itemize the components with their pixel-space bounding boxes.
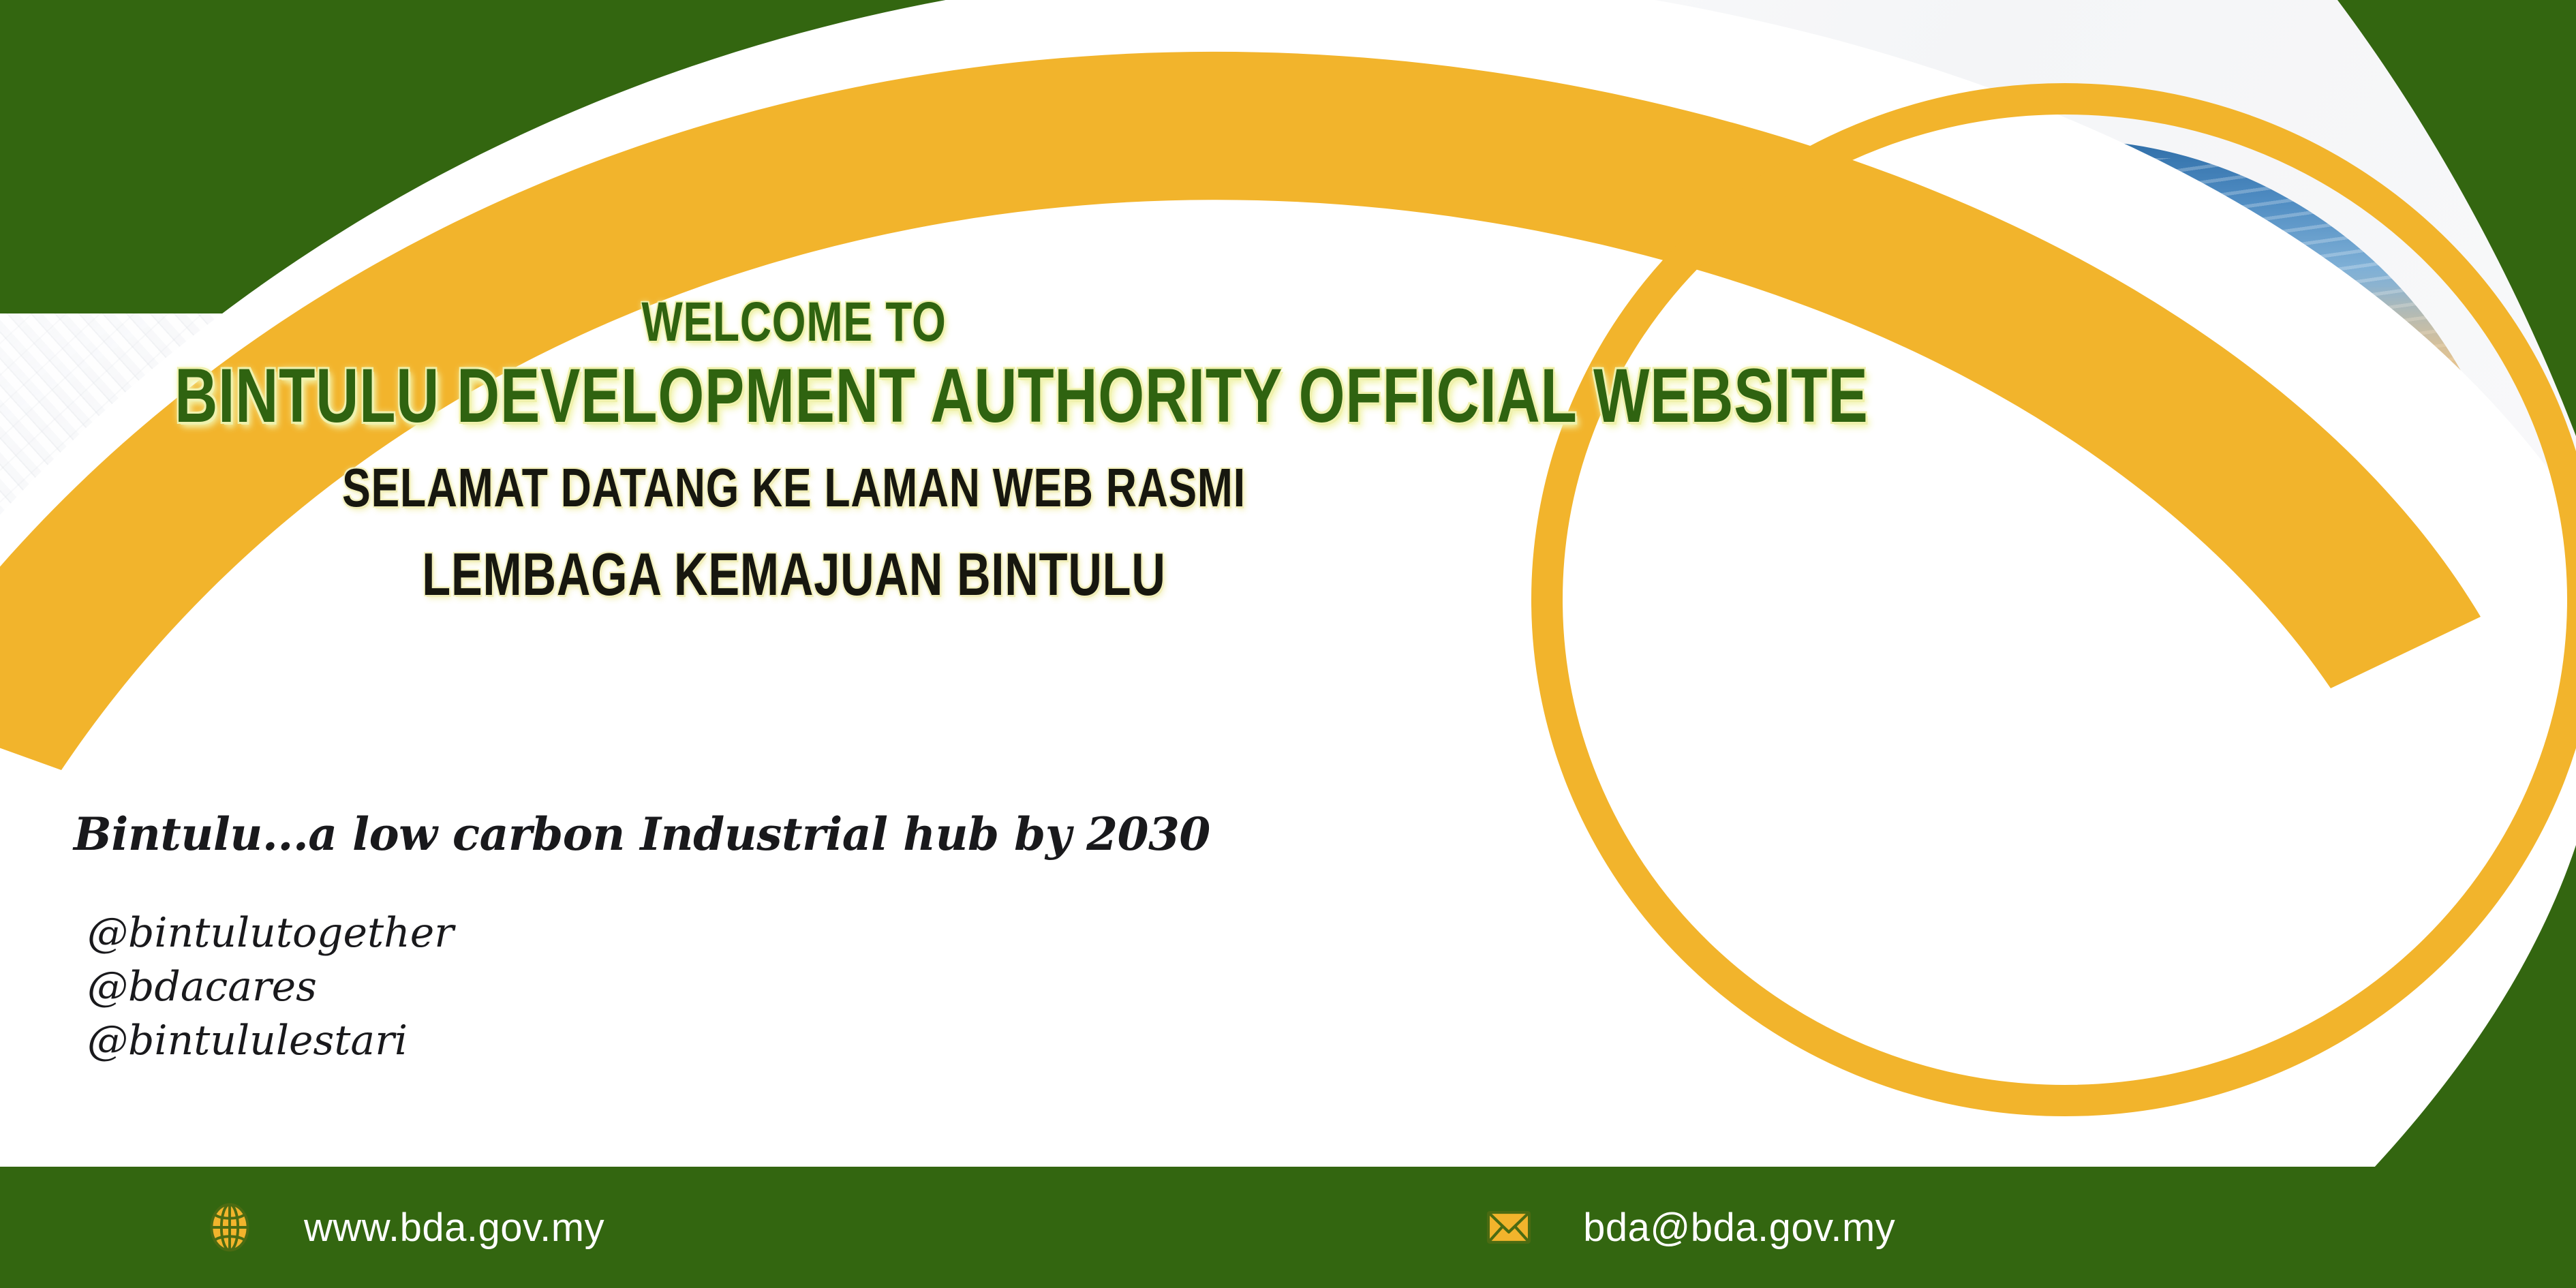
social-handle[interactable]: @bintulutogether	[87, 906, 454, 960]
social-handles-list: @bintulutogether @bdacares @bintululesta…	[87, 906, 454, 1069]
headline-malay-2: LEMBAGA KEMAJUAN BINTULU	[174, 543, 1413, 606]
website-url[interactable]: www.bda.gov.my	[304, 1205, 604, 1251]
headline-welcome: WELCOME TO	[174, 293, 1413, 351]
envelope-icon	[1484, 1202, 1534, 1253]
social-handle[interactable]: @bintululestari	[87, 1014, 454, 1068]
headline-malay-1: SELAMAT DATANG KE LAMAN WEB RASMI	[174, 459, 1413, 516]
headline-block: WELCOME TO BINTULU DEVELOPMENT AUTHORITY…	[0, 293, 1588, 605]
website-contact[interactable]: www.bda.gov.my	[204, 1202, 604, 1253]
social-handle[interactable]: @bdacares	[87, 960, 454, 1014]
decorative-artwork	[0, 0, 2576, 1288]
footer-bar: www.bda.gov.my bda@bda.gov.my	[0, 1167, 2576, 1288]
email-address[interactable]: bda@bda.gov.my	[1583, 1205, 1895, 1251]
headline-main: BINTULU DEVELOPMENT AUTHORITY OFFICIAL W…	[174, 356, 1413, 435]
bda-welcome-banner: WELCOME TO BINTULU DEVELOPMENT AUTHORITY…	[0, 0, 2576, 1288]
tagline: Bintulu...a low carbon Industrial hub by…	[74, 808, 1210, 861]
email-contact[interactable]: bda@bda.gov.my	[1484, 1202, 1895, 1253]
globe-icon	[204, 1202, 255, 1253]
